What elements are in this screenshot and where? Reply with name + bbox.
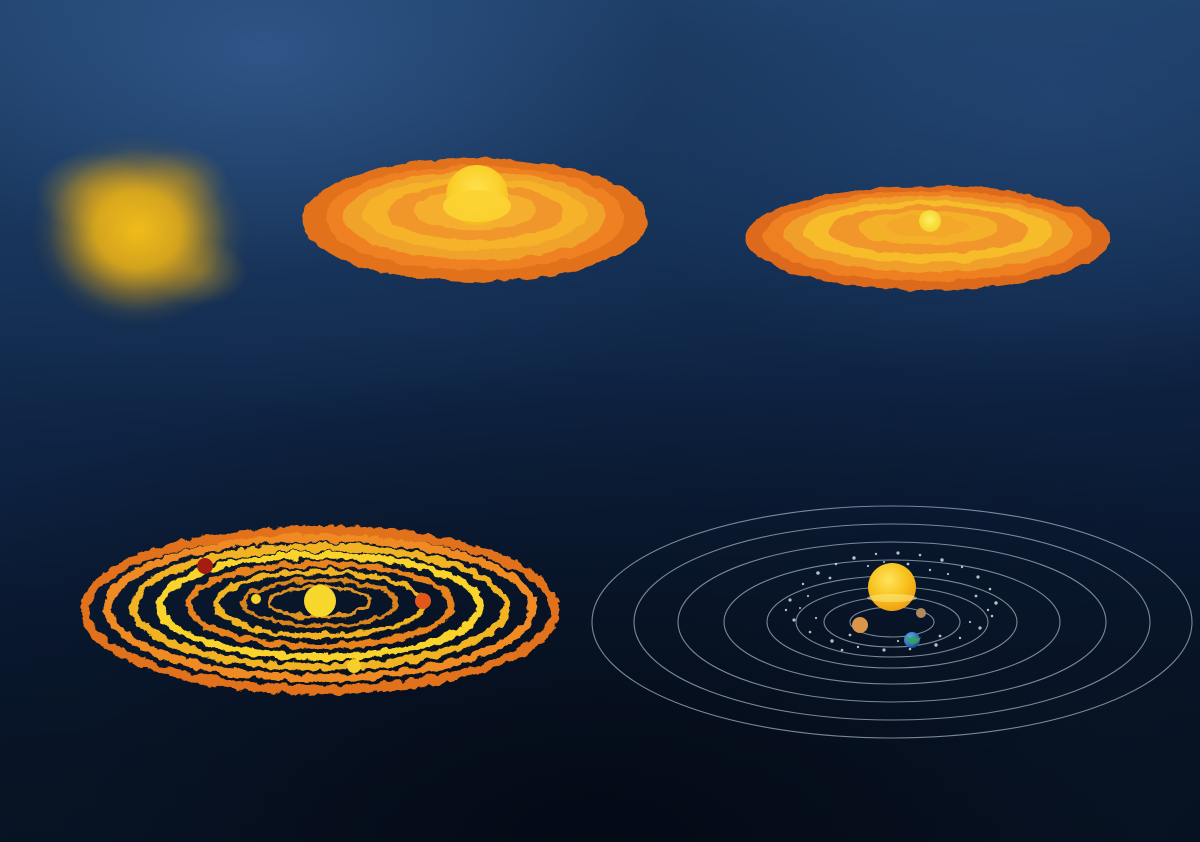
solar-system-illustration: Unable to parse any validly-formatted fu… <box>640 504 1200 704</box>
protostar-disk-illustration <box>300 138 650 298</box>
infographic-poster: Unable to parse any validly-formatted fu… <box>0 0 1200 842</box>
protoplanetary-rings-illustration <box>78 516 562 702</box>
gas-dust-cloud-illustration <box>18 128 268 340</box>
planet-mercury <box>916 608 926 618</box>
planet-venus <box>852 617 868 633</box>
star-ignition-disk-illustration <box>742 176 1114 306</box>
planet-sun <box>868 563 916 611</box>
